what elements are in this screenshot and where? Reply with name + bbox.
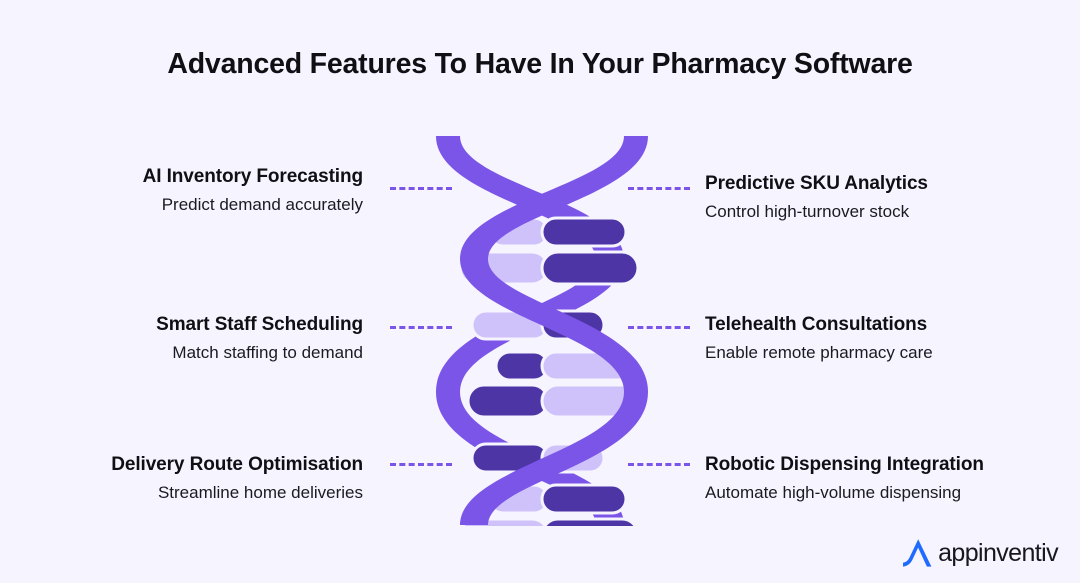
feature-item-predictive-sku-analytics: Predictive SKU Analytics Control high-tu… [705, 172, 1035, 223]
feature-item-robotic-dispensing-integration: Robotic Dispensing Integration Automate … [705, 453, 1035, 504]
dna-helix-illustration [432, 126, 652, 526]
appinventiv-mark-icon [901, 537, 935, 569]
feature-subtitle: Streamline home deliveries [33, 482, 363, 504]
connector-dash-left-1 [390, 187, 452, 190]
feature-title: Delivery Route Optimisation [33, 453, 363, 477]
feature-subtitle: Match staffing to demand [33, 342, 363, 364]
feature-title: Telehealth Consultations [705, 313, 1035, 337]
appinventiv-logo: appinventiv [901, 537, 1058, 569]
connector-dash-right-3 [628, 463, 690, 466]
feature-subtitle: Automate high-volume dispensing [705, 482, 1035, 504]
feature-item-telehealth-consultations: Telehealth Consultations Enable remote p… [705, 313, 1035, 364]
feature-item-delivery-route-optimisation: Delivery Route Optimisation Streamline h… [33, 453, 363, 504]
feature-subtitle: Enable remote pharmacy care [705, 342, 1035, 364]
feature-title: AI Inventory Forecasting [33, 165, 363, 189]
infographic-canvas: Advanced Features To Have In Your Pharma… [0, 0, 1080, 583]
connector-dash-right-1 [628, 187, 690, 190]
connector-dash-left-3 [390, 463, 452, 466]
connector-dash-right-2 [628, 326, 690, 329]
connector-dash-left-2 [390, 326, 452, 329]
feature-title: Robotic Dispensing Integration [705, 453, 1035, 477]
feature-title: Predictive SKU Analytics [705, 172, 1035, 196]
feature-subtitle: Predict demand accurately [33, 194, 363, 216]
page-title: Advanced Features To Have In Your Pharma… [0, 48, 1080, 81]
appinventiv-logo-text: appinventiv [938, 541, 1058, 566]
feature-item-smart-staff-scheduling: Smart Staff Scheduling Match staffing to… [33, 313, 363, 364]
feature-subtitle: Control high-turnover stock [705, 201, 1035, 223]
feature-title: Smart Staff Scheduling [33, 313, 363, 337]
feature-item-ai-inventory-forecasting: AI Inventory Forecasting Predict demand … [33, 165, 363, 216]
